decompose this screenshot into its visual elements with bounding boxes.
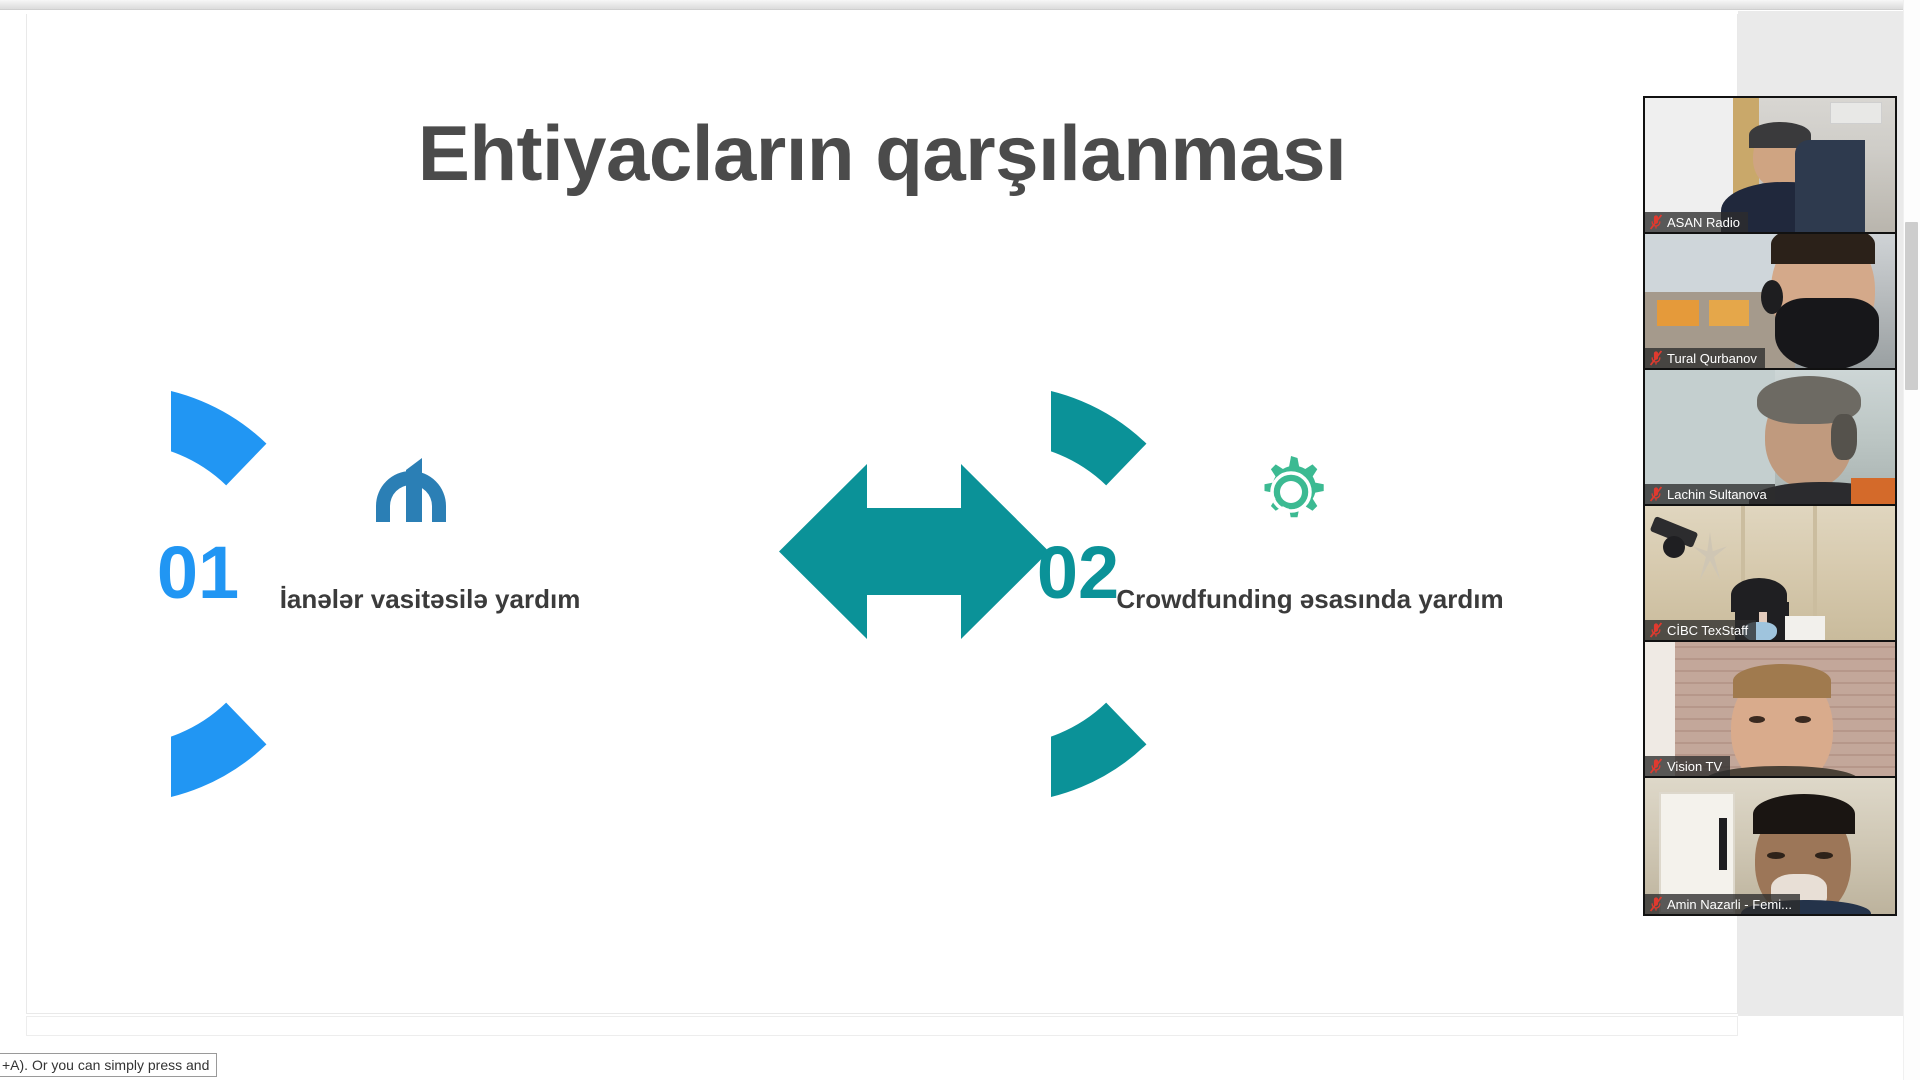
- top-toolbar-strip[interactable]: [0, 0, 1920, 10]
- microphone-muted-icon: [1649, 758, 1663, 774]
- participant-name-badge: Tural Qurbanov: [1645, 348, 1765, 368]
- participant-name-badge: Amin Nazarli - Femi...: [1645, 894, 1800, 914]
- participant-tile[interactable]: Lachin Sultanova: [1645, 370, 1895, 506]
- participant-tile[interactable]: ASAN Radio: [1645, 98, 1895, 234]
- participant-tile[interactable]: Vision TV: [1645, 642, 1895, 778]
- microphone-muted-icon: [1649, 622, 1663, 638]
- participant-tile[interactable]: Amin Nazarli - Femi...: [1645, 778, 1895, 914]
- participant-tile[interactable]: CİBC TexStaff: [1645, 506, 1895, 642]
- video-participants-panel[interactable]: ASAN Radio Tur: [1643, 96, 1897, 916]
- scrollbar-thumb[interactable]: [1905, 222, 1918, 390]
- tooltip-text: +A). Or you can simply press and: [0, 1053, 217, 1077]
- participant-name-badge: Vision TV: [1645, 756, 1730, 776]
- arch-monument-icon: [368, 454, 454, 524]
- participant-name: CİBC TexStaff: [1667, 623, 1748, 638]
- presentation-slide[interactable]: Ehtiyacların qarşılanması 01 İanələr vas…: [26, 14, 1738, 1014]
- slide-unit-02: 02 Crowdfunding əsasında yardım: [1051, 354, 1531, 834]
- participant-name-badge: ASAN Radio: [1645, 212, 1748, 232]
- slide-unit-01: 01 İanələr vasitəsilə yardım: [171, 354, 651, 834]
- microphone-muted-icon: [1649, 350, 1663, 366]
- participant-tile[interactable]: Tural Qurbanov: [1645, 234, 1895, 370]
- participant-name: Vision TV: [1667, 759, 1722, 774]
- double-headed-arrow-icon: [779, 464, 1049, 639]
- unit-02-caption: Crowdfunding əsasında yardım: [1113, 582, 1507, 616]
- slide-bottom-strip: [26, 1016, 1738, 1036]
- microphone-muted-icon: [1649, 486, 1663, 502]
- participant-name: Tural Qurbanov: [1667, 351, 1757, 366]
- microphone-muted-icon: [1649, 214, 1663, 230]
- participant-name-badge: Lachin Sultanova: [1645, 484, 1775, 504]
- participant-name: ASAN Radio: [1667, 215, 1740, 230]
- participant-name: Amin Nazarli - Femi...: [1667, 897, 1792, 912]
- participant-name: Lachin Sultanova: [1667, 487, 1767, 502]
- unit-02-icon-wrap: [1051, 454, 1531, 530]
- microphone-muted-icon: [1649, 896, 1663, 912]
- vertical-scrollbar[interactable]: [1903, 0, 1920, 1080]
- application-window: Ehtiyacların qarşılanması 01 İanələr vas…: [0, 0, 1920, 1080]
- unit-01-icon-wrap: [171, 454, 651, 524]
- gear-icon: [1253, 454, 1329, 530]
- slide-title: Ehtiyacların qarşılanması: [27, 108, 1737, 199]
- unit-01-caption: İanələr vasitəsilə yardım: [233, 582, 627, 616]
- participant-name-badge: CİBC TexStaff: [1645, 620, 1756, 640]
